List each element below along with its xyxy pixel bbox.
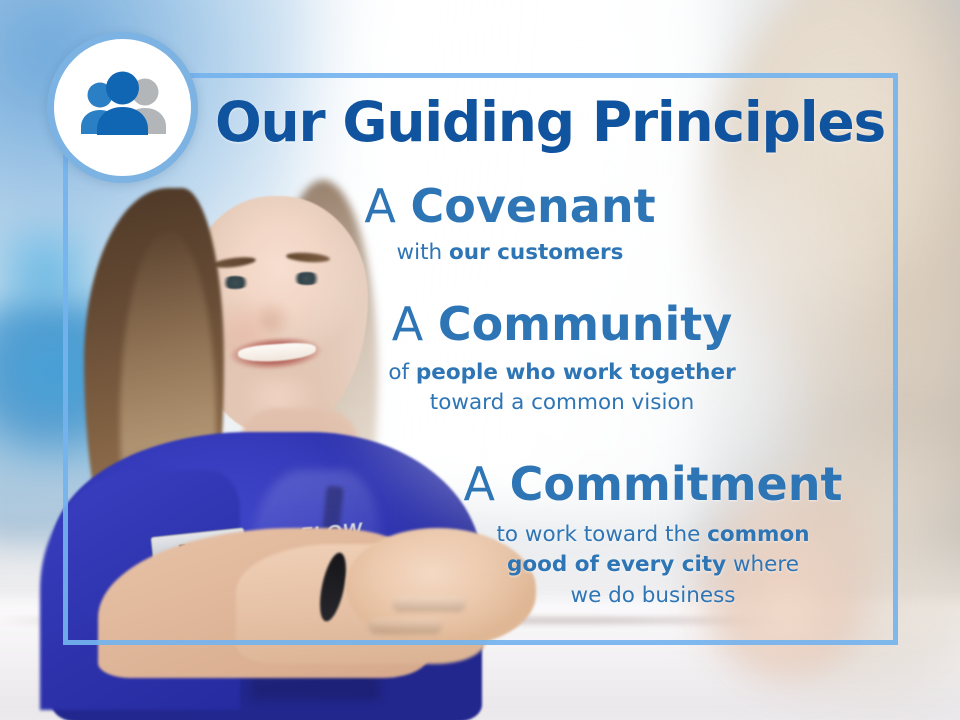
description-line: good of every city where — [428, 550, 878, 581]
principle-community: A Community of people who work together … — [352, 300, 772, 419]
page-title: Our Guiding Principles — [215, 95, 875, 150]
text-run: of — [388, 360, 416, 385]
text-run: to work toward the — [496, 522, 707, 547]
principle-heading: A Covenant — [330, 182, 690, 231]
principle-covenant: A Covenant with our customers — [330, 182, 690, 268]
principle-description: to work toward the common good of every … — [428, 520, 878, 612]
promo-graphic: FLOW AUTOMOTIVE FLOW Our Gu — [0, 0, 960, 720]
principle-article: A — [364, 179, 410, 233]
text-run-bold: good of every city — [507, 552, 726, 577]
description-line: of people who work together — [352, 358, 772, 389]
text-run-bold: people who work together — [416, 360, 736, 385]
principle-article: A — [392, 297, 438, 351]
text-run: we do business — [571, 583, 736, 608]
principle-article: A — [464, 457, 510, 511]
principle-noun: Commitment — [510, 457, 843, 511]
principle-heading: A Community — [352, 300, 772, 349]
description-line: we do business — [428, 581, 878, 612]
principle-commitment: A Commitment to work toward the common g… — [428, 460, 878, 611]
principle-noun: Covenant — [411, 179, 656, 233]
description-line: with our customers — [330, 238, 690, 269]
text-run: toward a common vision — [430, 390, 694, 415]
principle-description: with our customers — [330, 238, 690, 269]
people-group-badge — [47, 32, 198, 183]
people-group-icon — [71, 71, 175, 145]
text-run: with — [397, 240, 449, 265]
principle-heading: A Commitment — [428, 460, 878, 509]
principle-noun: Community — [438, 297, 732, 351]
text-run-bold: our customers — [449, 240, 623, 265]
description-line: toward a common vision — [352, 388, 772, 419]
description-line: to work toward the common — [428, 520, 878, 551]
text-run: where — [726, 552, 799, 577]
text-run-bold: common — [707, 522, 809, 547]
principle-description: of people who work together toward a com… — [352, 358, 772, 419]
